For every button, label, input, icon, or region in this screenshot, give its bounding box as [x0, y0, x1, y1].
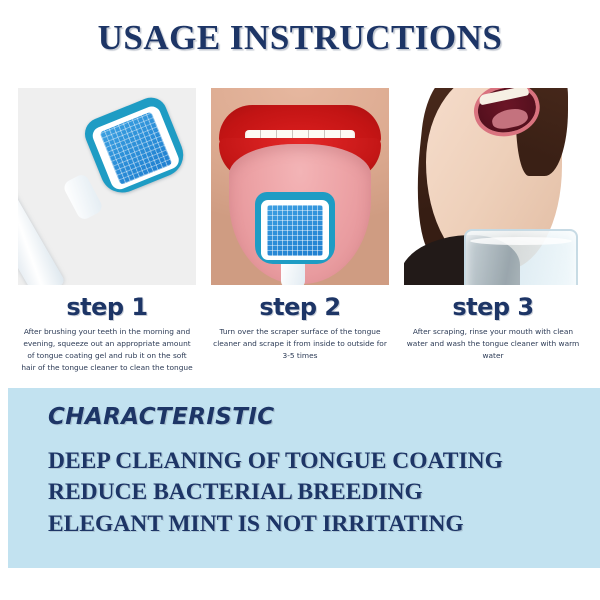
step-2-photo: [211, 88, 389, 285]
characteristic-panel: CHARACTERISTIC DEEP CLEANING OF TONGUE C…: [8, 388, 600, 568]
step-3-description: After scraping, rinse your mouth with cl…: [405, 326, 581, 362]
steps-row: step 1 After brushing your teeth in the …: [0, 88, 600, 378]
step-2-description: Turn over the scraper surface of the ton…: [212, 326, 388, 362]
cleaner-frame: [80, 93, 190, 199]
step-card-2: step 2 Turn over the scraper surface of …: [211, 88, 389, 378]
cleaner-frame-2: [255, 192, 335, 264]
step-1-label: step 1: [66, 295, 147, 320]
characteristic-item-1: DEEP CLEANING OF TONGUE COATING: [48, 446, 503, 477]
characteristic-list: DEEP CLEANING OF TONGUE COATING REDUCE B…: [48, 446, 503, 540]
step-3-photo: [404, 88, 582, 285]
characteristic-title: CHARACTERISTIC: [48, 404, 275, 430]
infographic-page: USAGE INSTRUCTIONS step 1 After brushing…: [0, 0, 600, 600]
water-glass-icon: [464, 229, 578, 285]
step-1-description: After brushing your teeth in the morning…: [19, 326, 195, 374]
step-card-1: step 1 After brushing your teeth in the …: [18, 88, 196, 378]
step-3-label: step 3: [452, 295, 533, 320]
step-2-label: step 2: [259, 295, 340, 320]
characteristic-item-3: ELEGANT MINT IS NOT IRRITATING: [48, 509, 503, 540]
characteristic-item-2: REDUCE BACTERIAL BREEDING: [48, 477, 503, 508]
step-1-photo: [18, 88, 196, 285]
step-card-3: step 3 After scraping, rinse your mouth …: [404, 88, 582, 378]
tongue-cleaner-head-icon: [80, 93, 190, 199]
page-title: USAGE INSTRUCTIONS: [0, 18, 600, 58]
tongue-cleaner-neck-icon: [62, 172, 105, 221]
teeth-icon-3: [478, 88, 529, 105]
tongue-cleaner-head-2-icon: [255, 192, 335, 264]
cleaner-bristles-2: [267, 205, 323, 256]
tongue-cleaner-handle-icon: [18, 153, 66, 285]
